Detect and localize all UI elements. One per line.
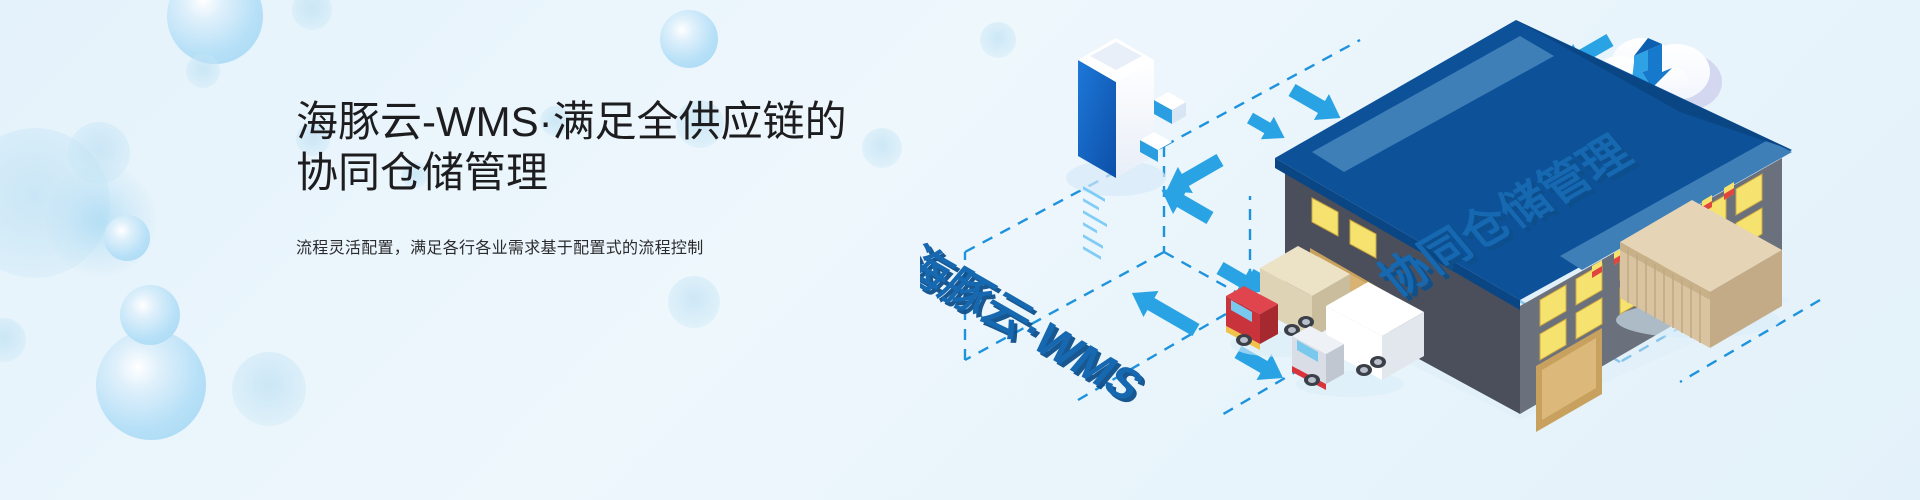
bubble-5 bbox=[46, 166, 156, 276]
bubble-15 bbox=[0, 318, 26, 362]
bubble-14 bbox=[186, 54, 220, 88]
bubble-0 bbox=[167, 0, 263, 64]
svg-text:海豚云·WMS: 海豚云·WMS bbox=[920, 237, 1154, 410]
page-title: 海豚云-WMS·满足全供应链的 协同仓储管理 bbox=[296, 96, 936, 198]
bubble-8 bbox=[232, 352, 306, 426]
bubble-2 bbox=[96, 330, 206, 440]
server-rack-icon bbox=[1066, 38, 1186, 260]
hero-subtitle: 流程灵活配置，满足各行各业需求基于配置式的流程控制 bbox=[296, 236, 936, 262]
iso-label-wms: 海豚云·WMS 海豚云·WMS bbox=[920, 237, 1157, 414]
bubble-6 bbox=[104, 215, 150, 261]
hero-banner: 海豚云-WMS·满足全供应链的 协同仓储管理 流程灵活配置，满足各行各业需求基于… bbox=[0, 0, 1920, 500]
warehouse-illustration: 海豚云·WMS 海豚云·WMS 协同仓储管理 协同仓储管理 bbox=[920, 0, 1920, 500]
bubble-9 bbox=[292, 0, 332, 30]
bubble-12 bbox=[668, 276, 720, 328]
bubble-7 bbox=[120, 285, 180, 345]
bubble-4 bbox=[68, 122, 130, 184]
bubble-3 bbox=[0, 128, 110, 278]
hero-copy: 海豚云-WMS·满足全供应链的 协同仓储管理 流程灵活配置，满足各行各业需求基于… bbox=[296, 96, 936, 262]
bubble-1 bbox=[660, 10, 718, 68]
